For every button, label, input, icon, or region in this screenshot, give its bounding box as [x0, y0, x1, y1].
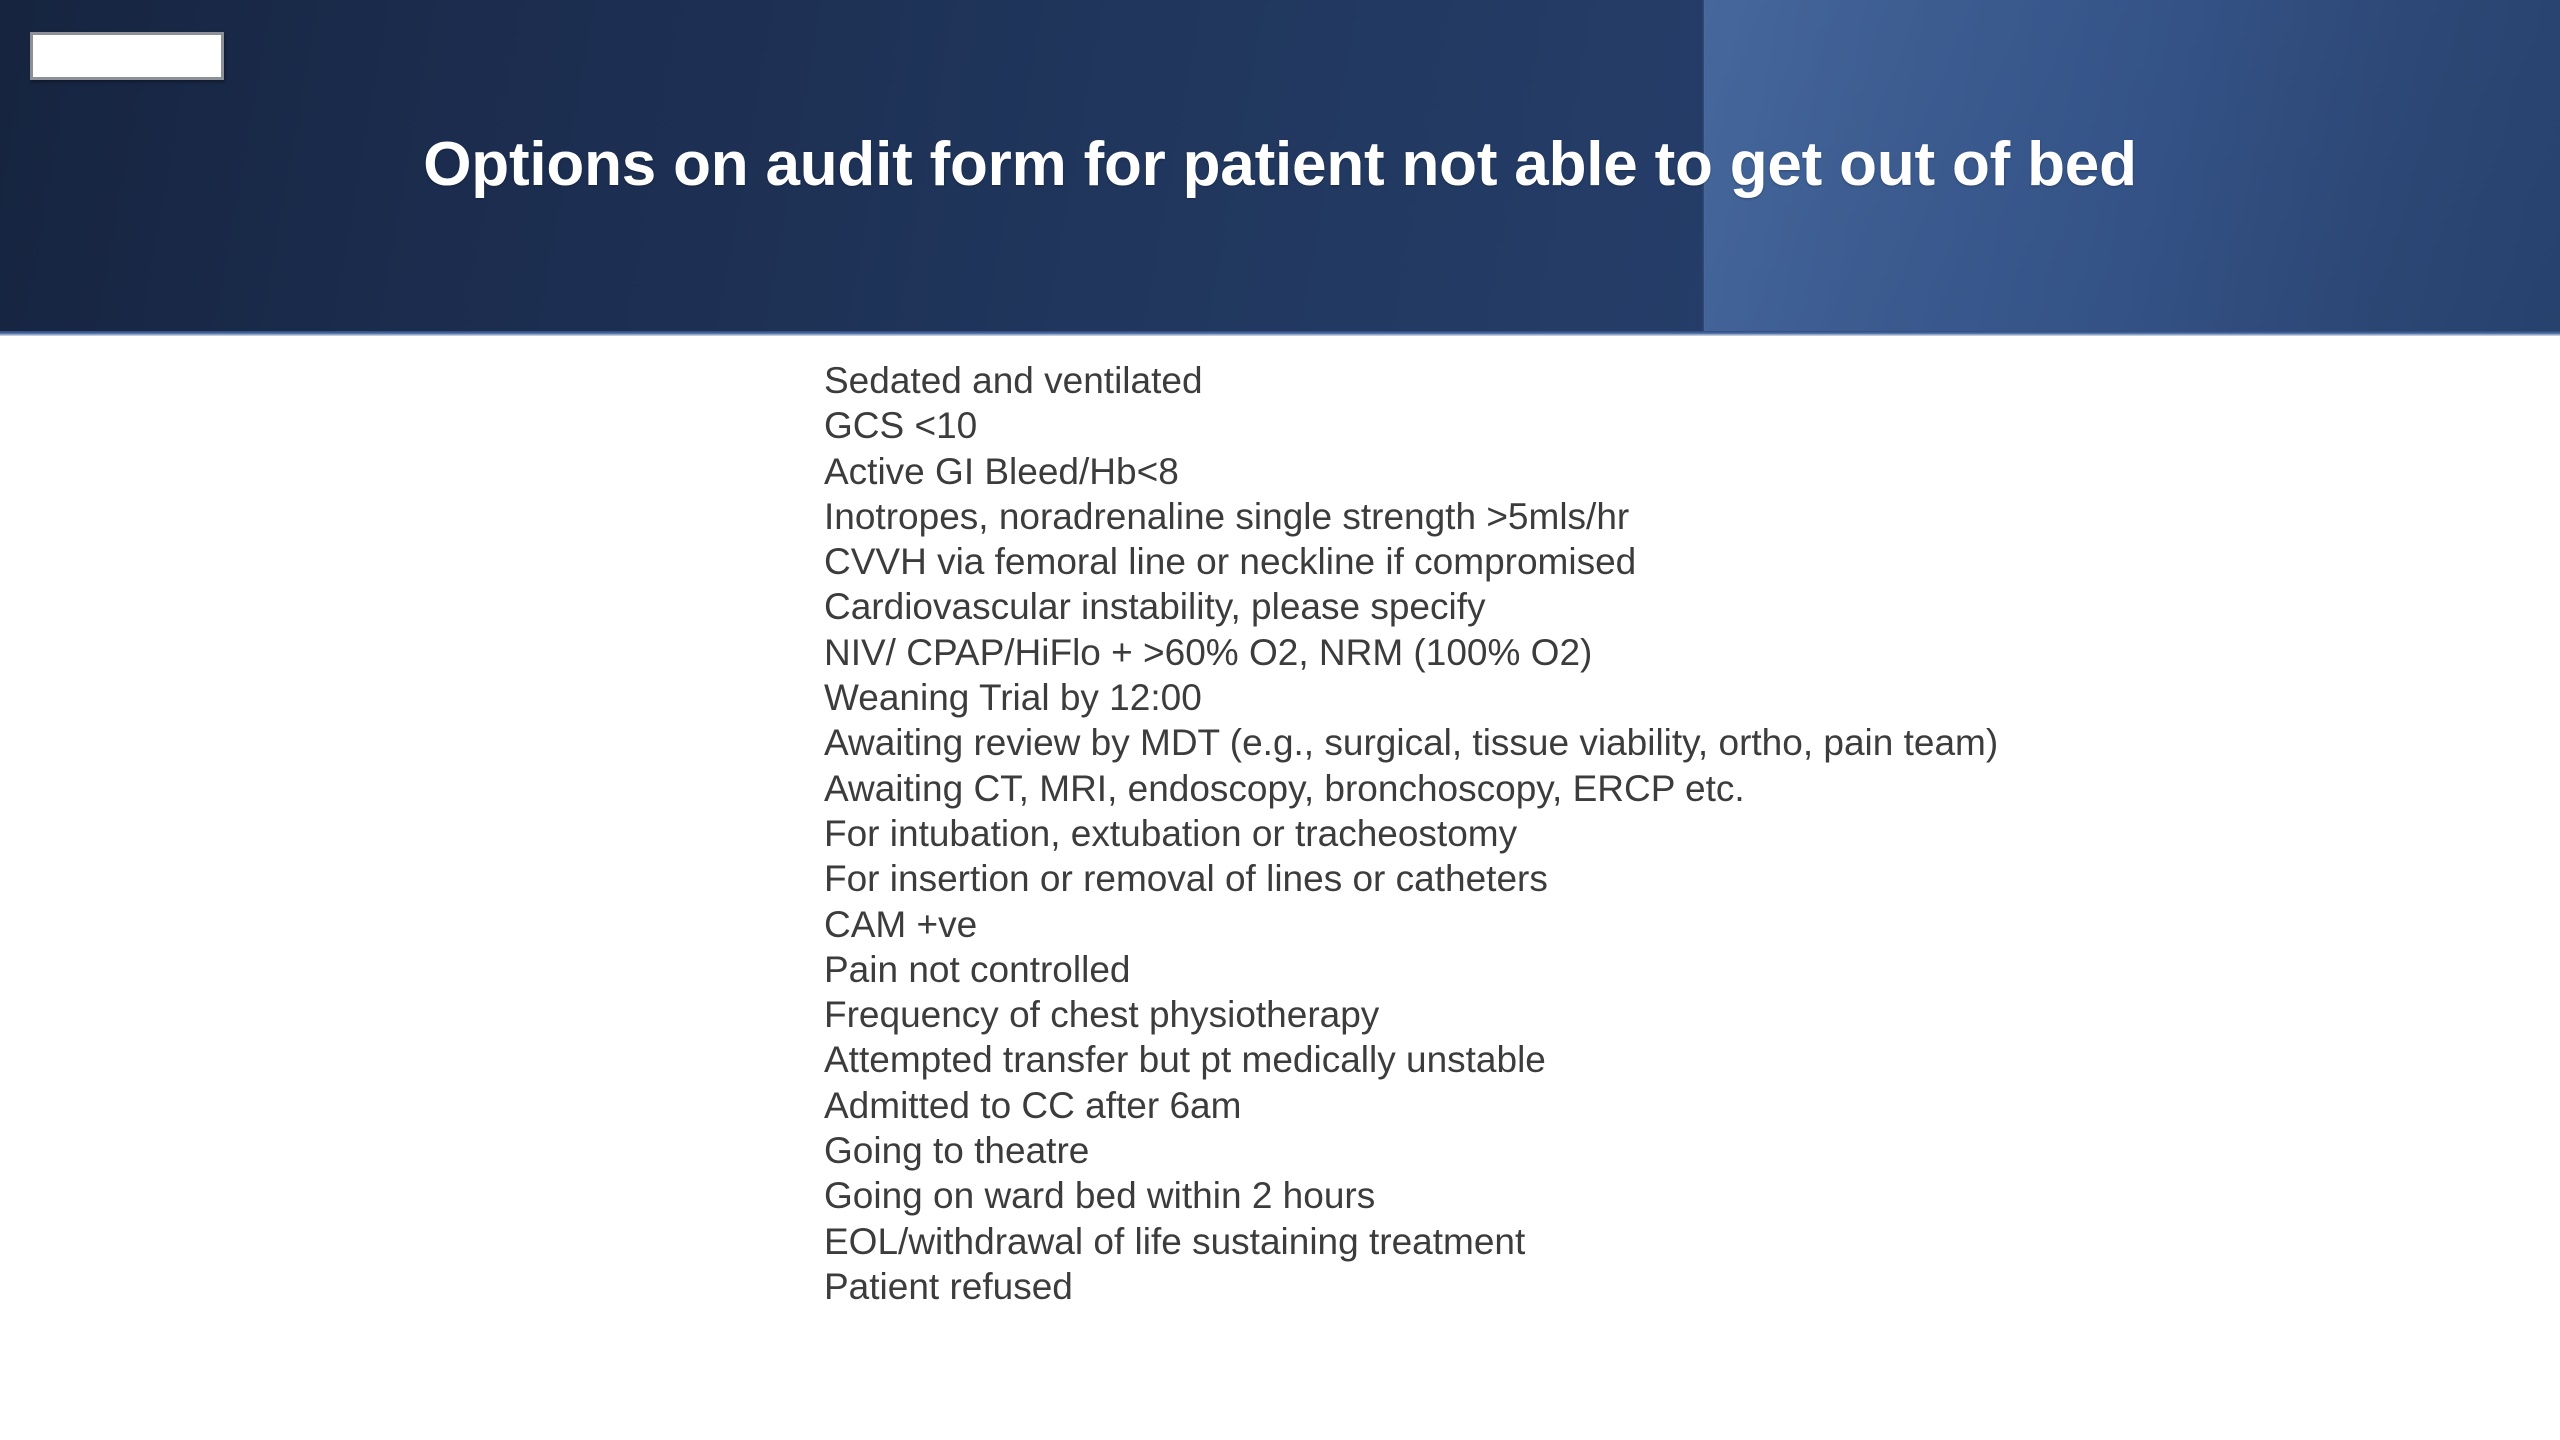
list-item: Going to theatre	[824, 1128, 2504, 1173]
list-item: GCS <10	[824, 403, 2504, 448]
list-item: Weaning Trial by 12:00	[824, 675, 2504, 720]
list-item: For intubation, extubation or tracheosto…	[824, 811, 2504, 856]
header-bottom-rule	[0, 331, 2560, 336]
list-item: Attempted transfer but pt medically unst…	[824, 1037, 2504, 1082]
slide-title: Options on audit form for patient not ab…	[0, 128, 2560, 202]
presentation-slide: Options on audit form for patient not ab…	[0, 0, 2560, 1440]
list-item: Pain not controlled	[824, 947, 2504, 992]
list-item: EOL/withdrawal of life sustaining treatm…	[824, 1219, 2504, 1264]
list-item: For insertion or removal of lines or cat…	[824, 856, 2504, 901]
list-item: Admitted to CC after 6am	[824, 1083, 2504, 1128]
list-item: Active GI Bleed/Hb<8	[824, 449, 2504, 494]
list-item: Inotropes, noradrenaline single strength…	[824, 494, 2504, 539]
list-item: CVVH via femoral line or neckline if com…	[824, 539, 2504, 584]
list-item: Going on ward bed within 2 hours	[824, 1173, 2504, 1218]
list-item: NIV/ CPAP/HiFlo + >60% O2, NRM (100% O2)	[824, 630, 2504, 675]
list-item: Frequency of chest physiotherapy	[824, 992, 2504, 1037]
list-item: Patient refused	[824, 1264, 2504, 1309]
list-item: Awaiting CT, MRI, endoscopy, bronchoscop…	[824, 766, 2504, 811]
list-item: CAM +ve	[824, 902, 2504, 947]
list-item: Cardiovascular instability, please speci…	[824, 584, 2504, 629]
list-item: Sedated and ventilated	[824, 358, 2504, 403]
slide-header-band: Options on audit form for patient not ab…	[0, 0, 2560, 336]
options-list: Sedated and ventilated GCS <10 Active GI…	[824, 358, 2504, 1309]
logo-placeholder-box[interactable]	[30, 32, 224, 80]
list-item: Awaiting review by MDT (e.g., surgical, …	[824, 720, 2504, 765]
